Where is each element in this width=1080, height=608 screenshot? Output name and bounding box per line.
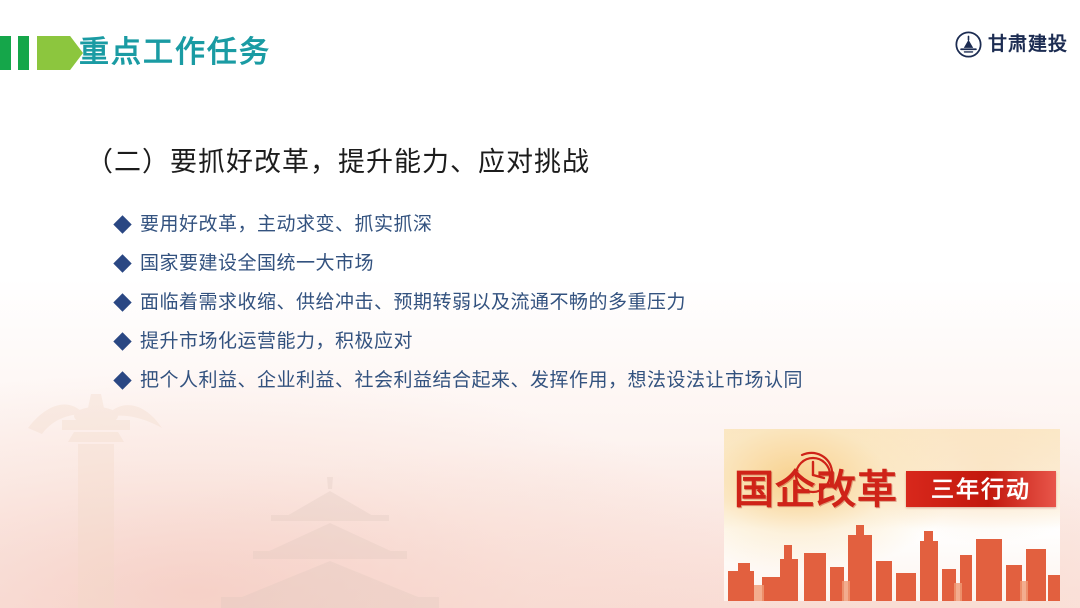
bullet-list: 要用好改革，主动求变、抓实抓深 国家要建设全国统一大市场 面临着需求收缩、供给冲…: [116, 212, 1080, 407]
accent-bar-first: [0, 36, 11, 70]
page-title: 重点工作任务: [79, 33, 271, 73]
list-item-label: 要用好改革，主动求变、抓实抓深: [140, 212, 433, 238]
campaign-title: 国企改革: [734, 467, 898, 513]
slide-header: 重点工作任务 甘肃建投: [0, 0, 1080, 104]
diamond-bullet-icon: [113, 332, 131, 350]
diamond-bullet-icon: [113, 293, 131, 311]
slide-canvas: 重点工作任务 甘肃建投 （二）要抓好改革，提升能力、应对挑战 要用好改革，主动求…: [0, 0, 1080, 608]
list-item: 提升市场化运营能力，积极应对: [116, 329, 1080, 368]
diamond-bullet-icon: [113, 371, 131, 389]
section-heading: （二）要抓好改革，提升能力、应对挑战: [86, 142, 590, 182]
campaign-banner: 三年行动: [906, 471, 1056, 507]
diamond-bullet-icon: [113, 215, 131, 233]
accent-bar-second: [18, 36, 29, 70]
list-item: 把个人利益、企业利益、社会利益结合起来、发挥作用，想法设法让市场认同: [116, 368, 1080, 407]
diamond-bullet-icon: [113, 254, 131, 272]
company-logo-text: 甘肃建投: [988, 31, 1068, 58]
list-item-label: 提升市场化运营能力，积极应对: [140, 329, 413, 355]
list-item-label: 国家要建设全国统一大市场: [140, 251, 374, 277]
accent-arrow-icon: [37, 36, 83, 70]
list-item: 面临着需求收缩、供给冲击、预期转弱以及流通不畅的多重压力: [116, 290, 1080, 329]
city-skyline-icon: [724, 515, 1060, 601]
company-logo: 甘肃建投: [955, 28, 1068, 60]
list-item: 要用好改革，主动求变、抓实抓深: [116, 212, 1080, 251]
campaign-banner-label: 三年行动: [906, 471, 1056, 507]
company-emblem-icon: [955, 31, 982, 58]
campaign-graphic: 国企改革 三年行动: [724, 429, 1060, 601]
list-item-label: 面临着需求收缩、供给冲击、预期转弱以及流通不畅的多重压力: [140, 290, 686, 316]
list-item: 国家要建设全国统一大市场: [116, 251, 1080, 290]
header-accent-marks: [0, 36, 83, 70]
list-item-label: 把个人利益、企业利益、社会利益结合起来、发挥作用，想法设法让市场认同: [140, 368, 803, 394]
